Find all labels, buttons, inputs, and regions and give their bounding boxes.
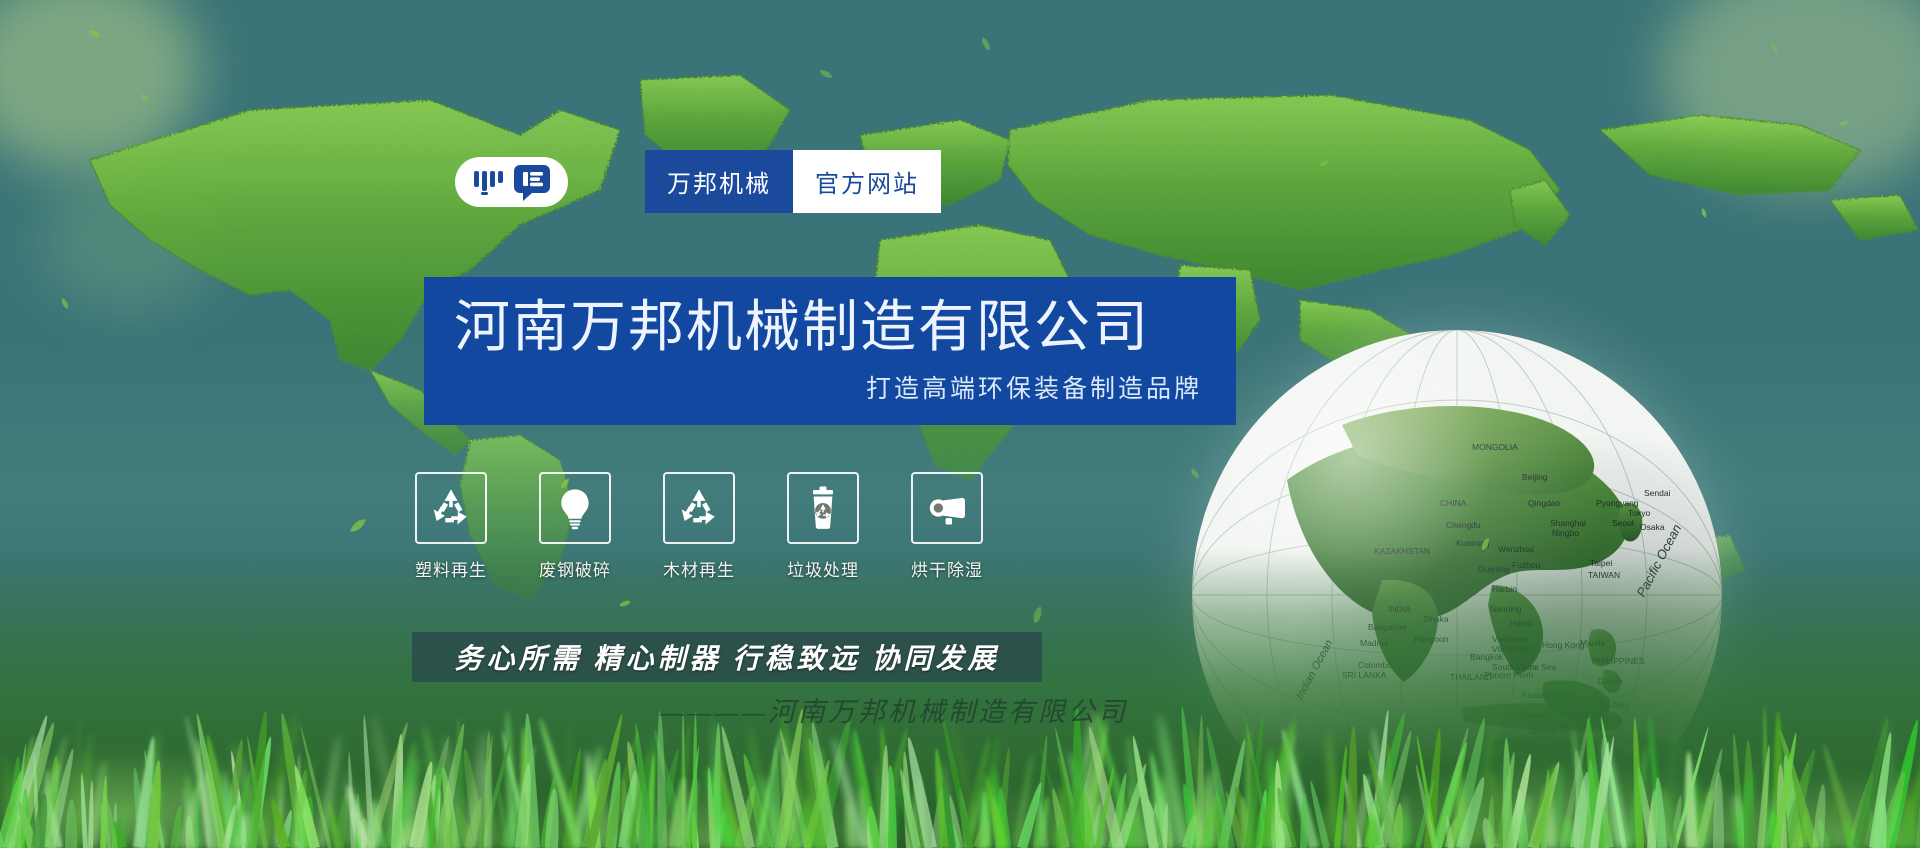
svg-text:Shanghai: Shanghai [1550, 518, 1586, 528]
svg-text:CHINA: CHINA [1440, 498, 1467, 508]
service-item-drying-dehumidifying[interactable]: 烘干除湿 [908, 472, 986, 581]
svg-text:Ningbo: Ningbo [1552, 528, 1579, 538]
svg-text:Sendai: Sendai [1644, 488, 1671, 498]
svg-text:Pyongyang: Pyongyang [1596, 498, 1639, 508]
service-item-scrap-steel-shredding[interactable]: 废钢破碎 [536, 472, 614, 581]
slogan-signature: ————河南万邦机械制造有限公司 [660, 690, 1300, 729]
service-item-plastic-recycling[interactable]: 塑料再生 [412, 472, 490, 581]
service-icon-box [787, 472, 859, 544]
svg-text:Qingdao: Qingdao [1528, 498, 1560, 508]
service-icon-box [539, 472, 611, 544]
service-label: 垃圾处理 [787, 556, 859, 581]
lightbulb-icon [552, 485, 598, 531]
company-tagline: 打造高端环保装备制造品牌 [454, 369, 1202, 405]
main-nav[interactable]: 万邦机械 官方网站 [645, 150, 941, 213]
w-monogram-icon [472, 167, 506, 197]
service-icon-box [415, 472, 487, 544]
service-icon-row[interactable]: 塑料再生 废钢破碎 [412, 472, 986, 581]
service-label: 木材再生 [663, 556, 735, 581]
service-icon-box [911, 472, 983, 544]
service-label: 烘干除湿 [911, 556, 983, 581]
nav-item-official-site[interactable]: 官方网站 [793, 150, 941, 213]
service-icon-box [663, 472, 735, 544]
service-label: 塑料再生 [415, 556, 487, 581]
svg-text:Beijing: Beijing [1522, 472, 1548, 482]
svg-text:Chengdu: Chengdu [1446, 520, 1481, 530]
svg-text:Seoul: Seoul [1612, 518, 1634, 528]
trash-bin-recycle-icon [800, 485, 846, 531]
slogan-band: 务心所需 精心制器 行稳致远 协同发展 [412, 632, 1042, 682]
hero-title-banner: 河南万邦机械制造有限公司 打造高端环保装备制造品牌 [424, 277, 1236, 425]
service-item-waste-treatment[interactable]: 垃圾处理 [784, 472, 862, 581]
slogan-text: 务心所需 精心制器 行稳致远 协同发展 [454, 637, 999, 677]
service-label: 废钢破碎 [539, 556, 611, 581]
company-title: 河南万邦机械制造有限公司 [454, 297, 1202, 357]
svg-text:MONGOLIA: MONGOLIA [1472, 442, 1518, 452]
recycle-icon [676, 485, 722, 531]
service-item-wood-recycling[interactable]: 木材再生 [660, 472, 738, 581]
dryer-blower-icon [924, 485, 970, 531]
svg-text:Osaka: Osaka [1640, 522, 1665, 532]
svg-text:Tokyo: Tokyo [1628, 508, 1650, 518]
hero-banner-stage: Pacific Ocean Indian Ocean CHINA Beijing… [0, 0, 1920, 848]
speech-bubble-icon [512, 163, 552, 201]
nav-item-brand[interactable]: 万邦机械 [645, 150, 793, 213]
site-logo[interactable] [455, 157, 568, 207]
recycle-icon [428, 485, 474, 531]
